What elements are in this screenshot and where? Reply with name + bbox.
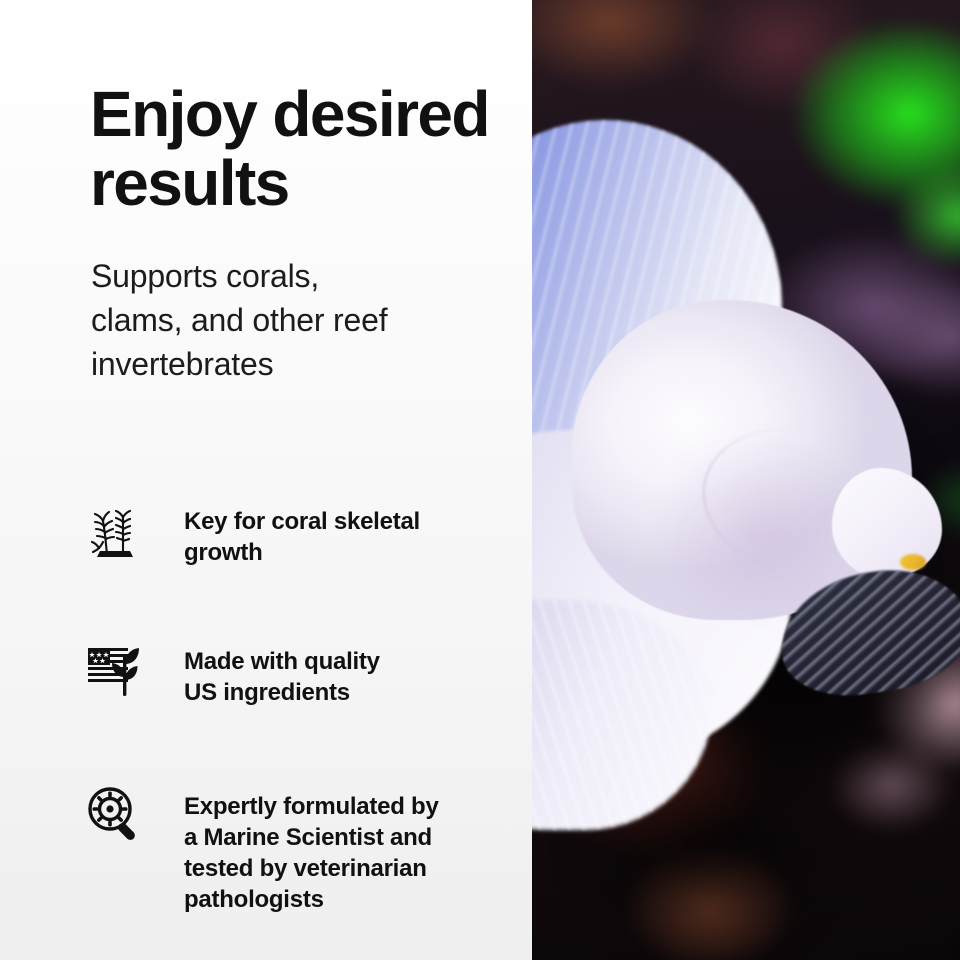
coral-plant-icon [86, 498, 148, 560]
feature-item-coral-growth: Key for coral skeletal growth [86, 498, 526, 568]
feature-label: Made with quality US ingredients [184, 638, 380, 708]
us-flag-plant-icon [86, 638, 148, 700]
feature-label: Key for coral skeletal growth [184, 498, 420, 568]
page-subtitle: Supports corals, clams, and other reef i… [91, 254, 511, 386]
photo-vignette [532, 0, 960, 960]
magnifier-microbe-icon [86, 783, 148, 845]
product-lifestyle-photo [532, 0, 960, 960]
feature-label: Expertly formulated by a Marine Scientis… [184, 783, 439, 915]
promotional-product-card: Enjoy desired results Supports corals, c… [0, 0, 960, 960]
feature-item-us-ingredients: Made with quality US ingredients [86, 638, 526, 708]
feature-item-expert-formulation: Expertly formulated by a Marine Scientis… [86, 783, 526, 915]
page-title: Enjoy desired results [90, 80, 530, 218]
content-panel: Enjoy desired results Supports corals, c… [0, 0, 532, 960]
